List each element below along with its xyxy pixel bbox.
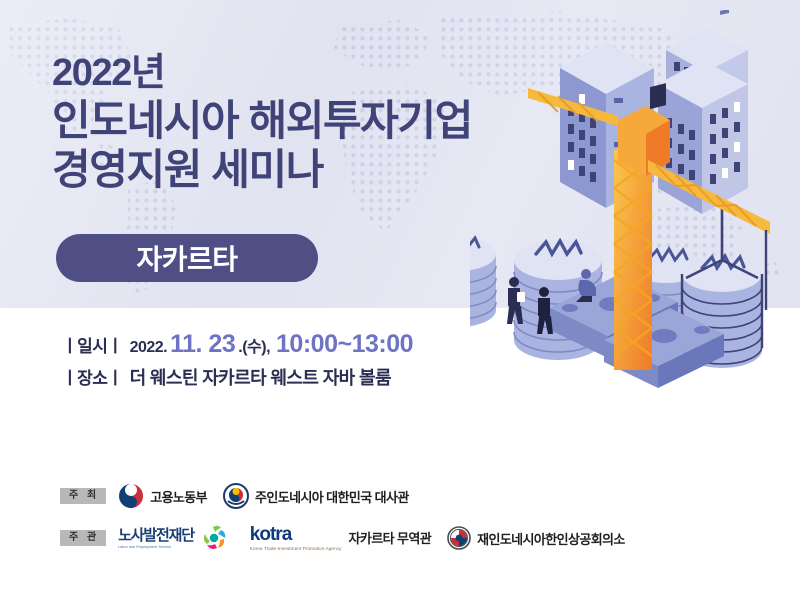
headline-year: 2022년 [52,52,522,95]
sponsor-label-kocham: 재인도네시아한인상공회의소 [477,529,625,548]
place-tag-label: ㅣ장소ㅣ [62,364,123,389]
date-suffix-value: .(수), [238,333,270,357]
kocham-emblem-logo [447,526,471,550]
event-place-row: ㅣ장소ㅣ 더 웨스틴 자카르타 웨스트 자바 볼룸 [62,364,532,390]
nosa-wordmark: 노사발전재단 [118,528,194,543]
poster-headline: 2022년 인도네시아 해외투자기업 경영지원 세미나 [52,52,522,193]
sponsor-label-kotra-office: 자카르타 무역관 [349,528,432,547]
kotra-wordmark: kotra [250,525,342,544]
city-pill-badge: 자카르타 [56,234,318,282]
sponsor-label-moel: 고용노동부 [150,487,207,506]
date-tag-label: ㅣ일시ㅣ [62,332,123,357]
sponsors-block: 주 최 고용노동부 주인도네시아 대한민국 대사관 [60,478,680,562]
date-highlight-value: 11. 23 [170,330,235,359]
korea-embassy-emblem-logo [223,483,249,509]
sponsor-item-embassy: 주인도네시아 대한민국 대사관 [223,483,409,509]
city-pill-label: 자카르타 [136,238,237,278]
sponsor-item-kotra: kotra Korea Trade-Investment Promotion A… [250,525,431,552]
event-time-value: 10:00~13:00 [276,330,413,359]
korea-government-taegeuk-logo [118,483,144,509]
sponsor-item-kocham: 재인도네시아한인상공회의소 [447,526,625,550]
date-year-value: 2022. [130,339,168,357]
nosa-foundation-logo [198,524,228,552]
event-info-block: ㅣ일시ㅣ 2022. 11. 23 .(수), 10:00~13:00 ㅣ장소ㅣ… [62,330,532,395]
host-badge-label: 주 최 [60,488,106,504]
sponsor-item-nosa: 노사발전재단 Labor and Employment Service [118,524,234,552]
event-date-row: ㅣ일시ㅣ 2022. 11. 23 .(수), 10:00~13:00 [62,330,532,359]
seminar-poster: 2022년 인도네시아 해외투자기업 경영지원 세미나 자카르타 ㅣ일시ㅣ 20… [0,0,800,600]
kotra-logo: kotra Korea Trade-Investment Promotion A… [250,525,342,552]
nosa-subtitle: Labor and Employment Service [118,545,194,549]
sponsor-row-host: 주 최 고용노동부 주인도네시아 대한민국 대사관 [60,478,680,514]
kotra-subtitle: Korea Trade-Investment Promotion Agency [250,546,342,552]
organizer-badge-label: 주 관 [60,530,106,546]
place-value: 더 웨스틴 자카르타 웨스트 자바 볼룸 [130,364,391,390]
sponsor-label-embassy: 주인도네시아 대한민국 대사관 [255,487,409,506]
sponsor-row-organizer: 주 관 노사발전재단 Labor and Employment Service [60,520,680,556]
headline-line-2: 경영지원 세미나 [52,146,522,193]
sponsor-item-moel: 고용노동부 [118,483,207,509]
headline-line-1: 인도네시아 해외투자기업 [52,97,522,144]
